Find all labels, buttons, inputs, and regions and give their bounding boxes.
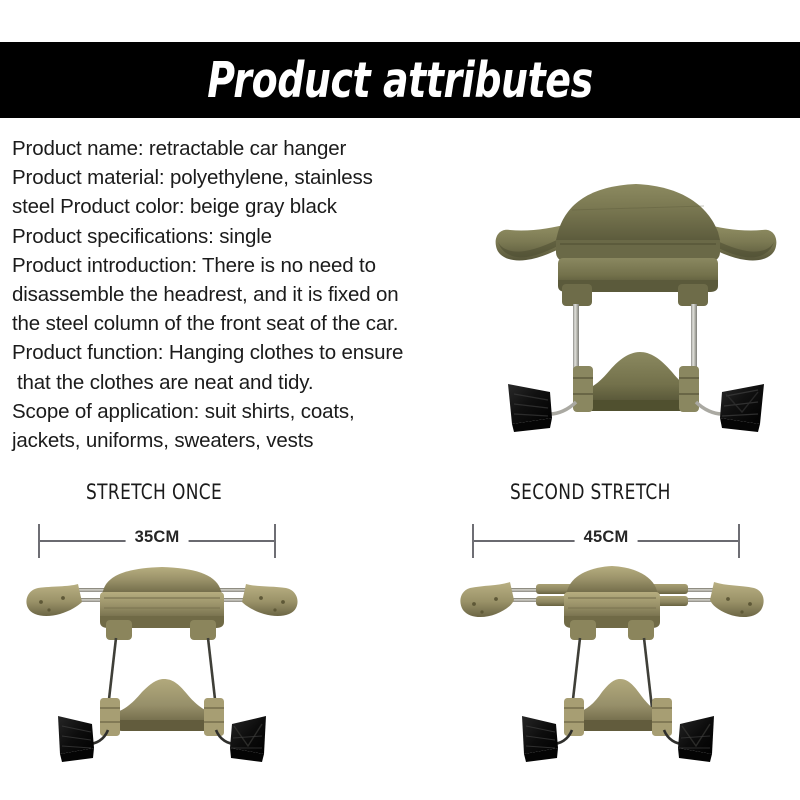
hanger-right-support [208,638,216,708]
dimension-label-35cm: 35CM [126,528,189,547]
hanger-right-arm [242,584,298,616]
page-title: Product attributes [56,42,744,118]
hanger-right-clamp [230,716,266,762]
product-spec-text: Product name: retractable car hanger Pro… [12,134,512,455]
hanger-center-block [100,592,224,620]
hanger-right-sleeve [190,620,216,640]
hanger-left-sleeve [570,620,596,640]
spec-line-product-introduction-2: disassemble the headrest, and it is fixe… [12,280,512,309]
hanger-right-support [644,638,652,708]
hanger-left-sleeve [562,284,592,306]
hanger-lower-bracket [584,352,694,406]
hanger-right-collar [652,698,672,736]
spec-line-product-introduction-1: Product introduction: There is no need t… [12,251,512,280]
header-banner: Product attributes [0,42,800,118]
hanger-left-sleeve [106,620,132,640]
hanger-left-collar [100,698,120,736]
hanger-center-block [564,592,660,620]
dimension-line-45cm: 45CM [472,524,740,558]
hanger-left-clamp [508,384,552,432]
hanger-left-clamp [522,716,558,762]
dimension-tick-right [274,524,276,558]
dimension-line-35cm: 35CM [38,524,276,558]
spec-line-product-color: steel Product color: beige gray black [12,192,512,221]
product-image-stretch-once [12,558,312,768]
hanger-left-collar [573,366,593,412]
hanger-right-sleeve [628,620,654,640]
hanger-top-bar [556,184,720,240]
spec-line-scope-1: Scope of application: suit shirts, coats… [12,397,512,426]
hanger-left-arm [26,584,82,616]
hanger-lower-bracket [116,679,210,726]
hanger-right-collar [204,698,224,736]
spec-line-product-function-1: Product function: Hanging clothes to ens… [12,338,512,367]
hanger-center-top [566,566,658,594]
dimension-label-45cm: 45CM [575,528,638,547]
hanger-left-arm [460,582,514,617]
spec-line-product-material: Product material: polyethylene, stainles… [12,163,512,192]
spec-line-product-name: Product name: retractable car hanger [12,134,512,163]
hanger-right-clamp [678,716,714,762]
hanger-left-support [108,638,116,708]
infographic-page: Product attributes Product name: retract… [0,0,800,800]
product-image-second-stretch [452,558,772,768]
product-image-main [480,162,790,432]
hanger-lower-bracket [578,679,660,726]
hanger-center-top [102,567,222,594]
hanger-left-support [572,638,580,708]
hanger-right-sleeve [678,284,708,306]
caption-second-stretch: SECOND STRETCH [510,480,671,504]
hanger-right-clamp [720,384,764,432]
dimension-tick-right [738,524,740,558]
hanger-right-collar [679,366,699,412]
spec-line-product-function-2: that the clothes are neat and tidy. [12,368,512,397]
spec-line-scope-2: jackets, uniforms, sweaters, vests [12,426,512,455]
caption-stretch-once: STRETCH ONCE [86,480,222,504]
hanger-left-clamp [58,716,94,762]
hanger-left-collar [564,698,584,736]
spec-line-product-specifications: Product specifications: single [12,222,512,251]
spec-line-product-introduction-3: the steel column of the front seat of th… [12,309,512,338]
hanger-right-arm [710,582,764,617]
